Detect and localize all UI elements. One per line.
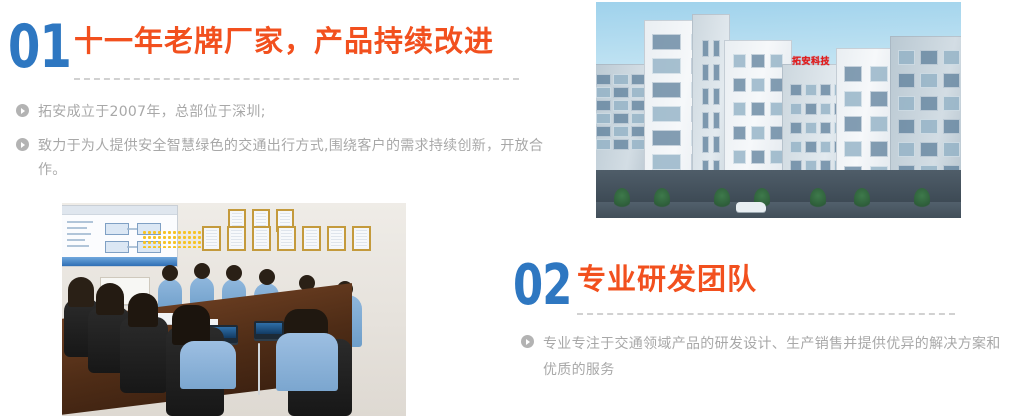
window-grid	[733, 54, 783, 164]
person-head	[226, 265, 242, 281]
section-02-bullet-list: 专业专注于交通领域产品的研发设计、生产销售并提供优异的解决方案和优质的服务	[521, 331, 1009, 393]
screen-titlebar	[62, 206, 177, 215]
certificate-frame	[202, 226, 221, 251]
section-02-divider	[577, 313, 955, 315]
section-01: 01 十一年老牌厂家，产品持续改进 拓安成立于2007年，总部位于深圳; 致力于…	[8, 18, 568, 80]
certificate-frame	[252, 226, 271, 251]
screen-taskbar	[62, 257, 177, 266]
person-back-of-head	[68, 277, 94, 307]
certificate-frame	[227, 226, 246, 251]
arrow-circle-icon	[16, 104, 29, 117]
building-sign-text: 拓安科技	[792, 54, 830, 67]
certificate-frame	[327, 226, 346, 251]
yellow-dot-pattern	[142, 230, 208, 248]
section-02-header: 02 专业研发团队	[513, 257, 1009, 319]
section-02-title: 专业研发团队	[577, 262, 757, 296]
list-item-text: 专业专注于交通领域产品的研发设计、生产销售并提供优异的解决方案和优质的服务	[543, 331, 1009, 383]
tree-icon	[654, 188, 670, 210]
person-back-of-head	[172, 305, 210, 345]
company-building-photo: 拓安科技	[596, 2, 961, 218]
person-head	[162, 265, 178, 281]
window-grid	[898, 50, 960, 180]
person-figure	[180, 341, 236, 389]
section-01-divider	[74, 78, 519, 80]
tree-icon	[714, 188, 730, 210]
team-meeting-photo	[62, 203, 406, 416]
person-back-of-head	[96, 283, 124, 315]
window-grid	[844, 66, 888, 182]
list-item: 专业专注于交通领域产品的研发设计、生产销售并提供优异的解决方案和优质的服务	[521, 331, 1009, 383]
cable	[258, 343, 260, 395]
list-item-text: 拓安成立于2007年，总部位于深圳;	[38, 100, 266, 124]
certificate-frame	[352, 226, 371, 251]
arrow-circle-icon	[16, 138, 29, 151]
section-01-number: 01	[8, 18, 71, 76]
certificate-frame	[277, 226, 296, 251]
person-head	[194, 263, 210, 279]
list-item-text: 致力于为人提供安全智慧绿色的交通出行方式,围绕客户的需求持续创新，开放合作。	[38, 134, 568, 182]
section-01-bullet-list: 拓安成立于2007年，总部位于深圳; 致力于为人提供安全智慧绿色的交通出行方式,…	[16, 100, 568, 192]
tree-icon	[614, 188, 630, 210]
section-02: 02 专业研发团队 专业专注于交通领域产品的研发设计、生产销售并提供优异的解决方…	[513, 257, 1009, 319]
office-chair	[120, 317, 168, 393]
section-02-number: 02	[513, 257, 572, 315]
tree-icon	[854, 188, 870, 210]
tree-icon	[914, 188, 930, 210]
section-01-title: 十一年老牌厂家，产品持续改进	[74, 24, 494, 58]
person-figure	[276, 333, 338, 391]
car-icon	[736, 202, 766, 212]
section-01-header: 01 十一年老牌厂家，产品持续改进	[8, 18, 568, 80]
window-grid	[596, 74, 646, 150]
list-item: 致力于为人提供安全智慧绿色的交通出行方式,围绕客户的需求持续创新，开放合作。	[16, 134, 568, 182]
list-item: 拓安成立于2007年，总部位于深圳;	[16, 100, 568, 124]
page-root: 01 十一年老牌厂家，产品持续改进 拓安成立于2007年，总部位于深圳; 致力于…	[0, 0, 1009, 416]
person-back-of-head	[128, 293, 158, 327]
arrow-circle-icon	[521, 335, 534, 348]
tree-icon	[810, 188, 826, 210]
street-strip	[596, 202, 961, 218]
person-head	[259, 269, 275, 285]
certificate-frame	[302, 226, 321, 251]
